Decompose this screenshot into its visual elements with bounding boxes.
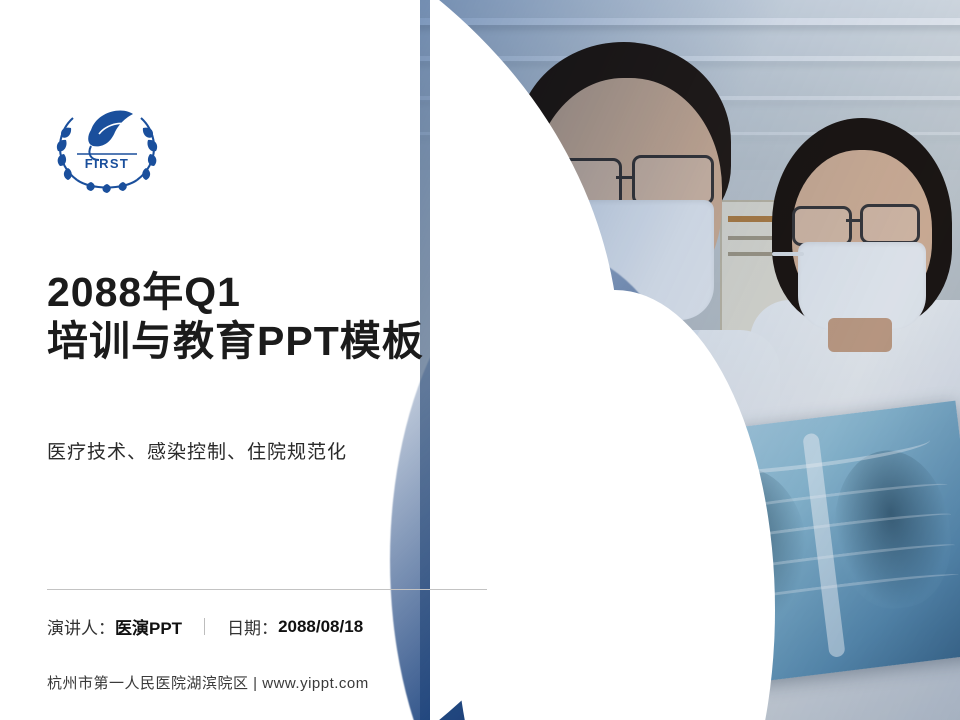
speaker-label: 演讲人： bbox=[47, 614, 115, 639]
footer-text: 杭州市第一人民医院湖滨院区 | www.yippt.com bbox=[47, 672, 369, 693]
title-line-2: 培训与教育PPT模板 bbox=[47, 316, 517, 367]
divider bbox=[47, 589, 487, 590]
title-line-1: 2088年Q1 bbox=[47, 268, 517, 316]
subtitle: 医疗技术、感染控制、住院规范化 bbox=[47, 437, 347, 464]
hospital-logo: FIRST bbox=[47, 84, 167, 196]
title-block: 2088年Q1 培训与教育PPT模板 bbox=[47, 268, 517, 368]
date-value: 2088/08/18 bbox=[278, 617, 363, 637]
presenter-meta: 演讲人： 医演PPT 日期： 2088/08/18 bbox=[47, 614, 363, 639]
date-label: 日期： bbox=[227, 614, 278, 639]
speaker-value: 医演PPT bbox=[115, 614, 182, 639]
logo-wordmark: FIRST bbox=[85, 156, 130, 171]
presentation-title-slide: FIRST 2088年Q1 培训与教育PPT模板 医疗技术、感染控制、住院规范化… bbox=[0, 0, 960, 720]
meta-separator bbox=[204, 618, 205, 635]
